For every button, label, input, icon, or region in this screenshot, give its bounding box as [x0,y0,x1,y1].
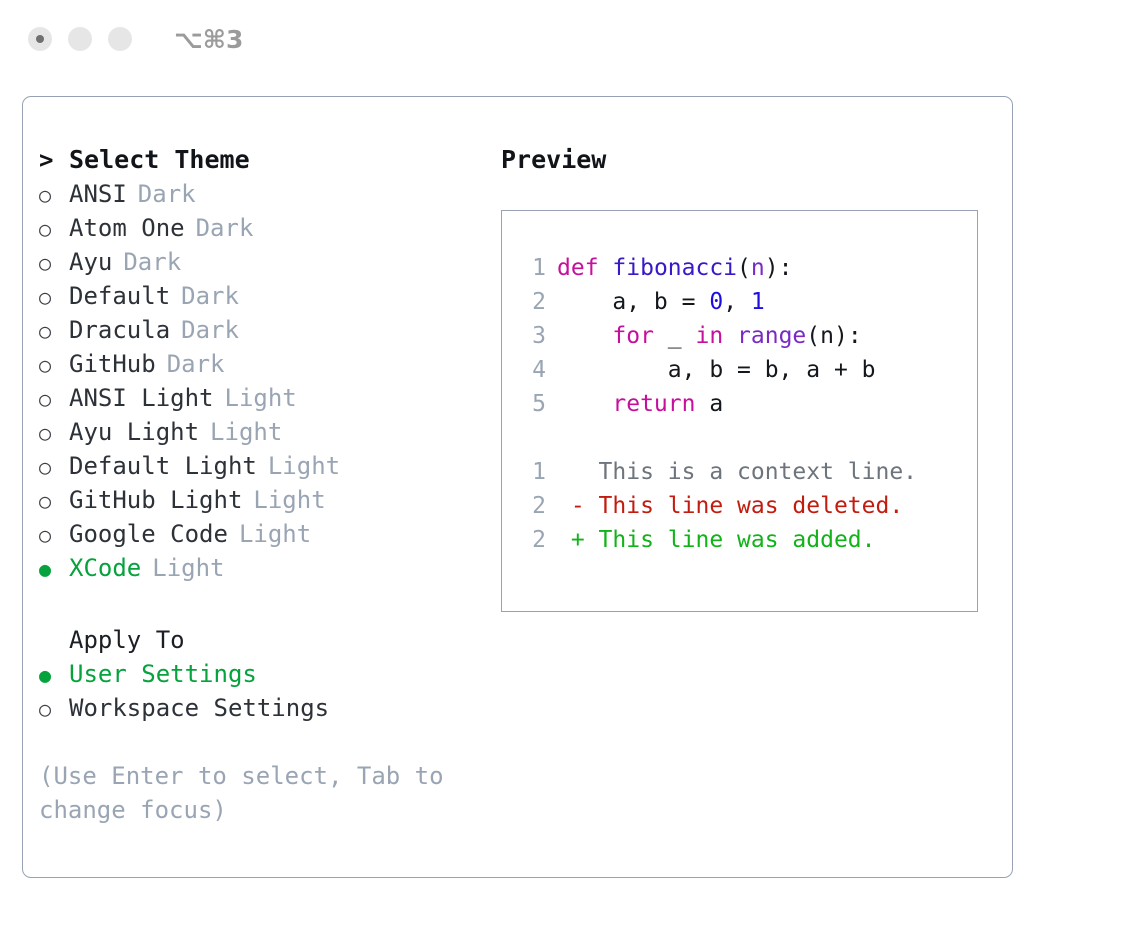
radio-unselected-icon[interactable]: ○ [39,518,69,552]
theme-variant-badge: Dark [181,313,239,347]
preview-title: Preview [501,143,991,177]
close-dot-inner-icon [36,35,44,43]
code-line: 4 a, b = b, a + b [514,353,977,387]
select-theme-header: > Select Theme [39,143,489,177]
apply-to-option-label: Workspace Settings [69,691,329,725]
code-token: n [751,255,765,281]
theme-name: Default Light [69,449,257,483]
radio-unselected-icon[interactable]: ○ [39,212,69,246]
code-token: range [737,323,806,349]
theme-selector-column: > Select Theme ○ANSIDark○Atom OneDark○Ay… [39,143,489,827]
theme-list-item[interactable]: ●XCodeLight [39,551,489,585]
theme-list-item[interactable]: ○GitHubDark [39,347,489,381]
code-token: return [612,391,695,417]
code-line-text: return a [557,387,723,421]
select-theme-label: Select Theme [69,143,250,177]
code-line-number: 1 [514,251,546,285]
radio-selected-icon[interactable]: ● [39,552,69,586]
theme-variant-badge: Dark [196,211,254,245]
diff-sign: + [557,523,599,557]
code-line-text: a, b = b, a + b [557,353,876,387]
theme-name: GitHub Light [69,483,242,517]
diff-line: 2 + This line was added. [514,523,977,557]
radio-selected-icon[interactable]: ● [39,658,69,692]
theme-name: ANSI Light [69,381,214,415]
code-token: in [695,323,723,349]
code-token: a, b = b, a + b [668,357,876,383]
code-token: a, b = [612,289,709,315]
diff-line: 2 - This line was deleted. [514,489,977,523]
radio-unselected-icon[interactable]: ○ [39,314,69,348]
diff-sample: 1 This is a context line.2 - This line w… [514,455,977,557]
theme-variant-badge: Light [268,449,340,483]
code-token: ( [737,255,751,281]
code-line-number: 2 [514,285,546,319]
theme-name: Ayu Light [69,415,199,449]
apply-to-options: ●User Settings○Workspace Settings [39,657,489,725]
apply-to-option[interactable]: ○Workspace Settings [39,691,489,725]
diff-line-number: 2 [514,523,546,557]
code-token: fibonacci [612,255,737,281]
traffic-light-group [28,27,132,51]
radio-unselected-icon[interactable]: ○ [39,484,69,518]
diff-sign: - [557,489,599,523]
theme-list-item[interactable]: ○GitHub LightLight [39,483,489,517]
apply-to-marker-spacer: ○ [39,623,69,657]
theme-list: ○ANSIDark○Atom OneDark○AyuDark○DefaultDa… [39,177,489,585]
code-line-text: a, b = 0, 1 [557,285,765,319]
code-token: a [695,391,723,417]
code-token: ): [765,255,793,281]
radio-unselected-icon[interactable]: ○ [39,450,69,484]
radio-unselected-icon[interactable]: ○ [39,692,69,726]
radio-unselected-icon[interactable]: ○ [39,382,69,416]
code-token: def [557,255,599,281]
window-title: ⌥⌘3 [174,27,243,52]
code-line: 3 for _ in range(n): [514,319,977,353]
theme-variant-badge: Dark [181,279,239,313]
code-token [723,323,737,349]
close-dot-icon[interactable] [28,27,52,51]
theme-list-item[interactable]: ○Atom OneDark [39,211,489,245]
code-token: 0 [709,289,723,315]
main-panel: > Select Theme ○ANSIDark○Atom OneDark○Ay… [22,96,1013,878]
code-line: 5 return a [514,387,977,421]
theme-list-item[interactable]: ○Google CodeLight [39,517,489,551]
theme-list-item[interactable]: ○DefaultDark [39,279,489,313]
theme-name: ANSI [69,177,127,211]
theme-variant-badge: Dark [167,347,225,381]
apply-to-label: Apply To [69,623,185,657]
section-spacer [39,585,489,623]
theme-list-item[interactable]: ○ANSIDark [39,177,489,211]
code-line-number: 4 [514,353,546,387]
theme-name: Atom One [69,211,185,245]
radio-unselected-icon[interactable]: ○ [39,348,69,382]
code-line: 1def fibonacci(n): [514,251,977,285]
code-line-number: 3 [514,319,546,353]
code-token: 1 [751,289,765,315]
keyboard-hint: (Use Enter to select, Tab to change focu… [39,759,453,827]
theme-variant-badge: Light [210,415,282,449]
minimize-dot-icon[interactable] [68,27,92,51]
code-token: (n): [806,323,861,349]
theme-name: Google Code [69,517,228,551]
code-line-number: 5 [514,387,546,421]
app-window: ⌥⌘3 > Select Theme ○ANSIDark○Atom OneDar… [0,0,1140,934]
code-token: , [723,289,751,315]
diff-line-number: 2 [514,489,546,523]
radio-unselected-icon[interactable]: ○ [39,416,69,450]
theme-name: Dracula [69,313,170,347]
radio-unselected-icon[interactable]: ○ [39,178,69,212]
theme-list-item[interactable]: ○AyuDark [39,245,489,279]
theme-variant-badge: Dark [138,177,196,211]
theme-name: Default [69,279,170,313]
preview-column: Preview 1def fibonacci(n):2 a, b = 0, 13… [501,143,991,612]
theme-variant-badge: Light [253,483,325,517]
radio-unselected-icon[interactable]: ○ [39,246,69,280]
preview-box: 1def fibonacci(n):2 a, b = 0, 13 for _ i… [501,210,978,612]
theme-variant-badge: Light [152,551,224,585]
diff-line-number: 1 [514,455,546,489]
theme-name: XCode [69,551,141,585]
theme-list-item[interactable]: ○DraculaDark [39,313,489,347]
caret-icon: > [39,143,69,177]
diff-text: This line was added. [599,523,876,557]
radio-unselected-icon[interactable]: ○ [39,280,69,314]
apply-to-header: ○ Apply To [39,623,489,657]
code-line: 2 a, b = 0, 1 [514,285,977,319]
theme-list-item[interactable]: ○Ayu LightLight [39,415,489,449]
theme-variant-badge: Dark [123,245,181,279]
apply-to-option[interactable]: ●User Settings [39,657,489,691]
code-line-text: def fibonacci(n): [557,251,792,285]
theme-variant-badge: Light [239,517,311,551]
theme-list-item[interactable]: ○Default LightLight [39,449,489,483]
theme-variant-badge: Light [225,381,297,415]
zoom-dot-icon[interactable] [108,27,132,51]
apply-to-option-label: User Settings [69,657,257,691]
code-diff-spacer [514,421,977,455]
diff-sign [557,455,599,489]
diff-text: This line was deleted. [599,489,904,523]
theme-name: Ayu [69,245,112,279]
theme-name: GitHub [69,347,156,381]
title-bar: ⌥⌘3 [0,0,1140,78]
diff-line: 1 This is a context line. [514,455,977,489]
diff-text: This is a context line. [599,455,918,489]
code-line-text: for _ in range(n): [557,319,862,353]
theme-list-item[interactable]: ○ANSI LightLight [39,381,489,415]
code-token [599,255,613,281]
code-token: _ [654,323,696,349]
code-sample: 1def fibonacci(n):2 a, b = 0, 13 for _ i… [514,251,977,421]
code-token: for [612,323,654,349]
